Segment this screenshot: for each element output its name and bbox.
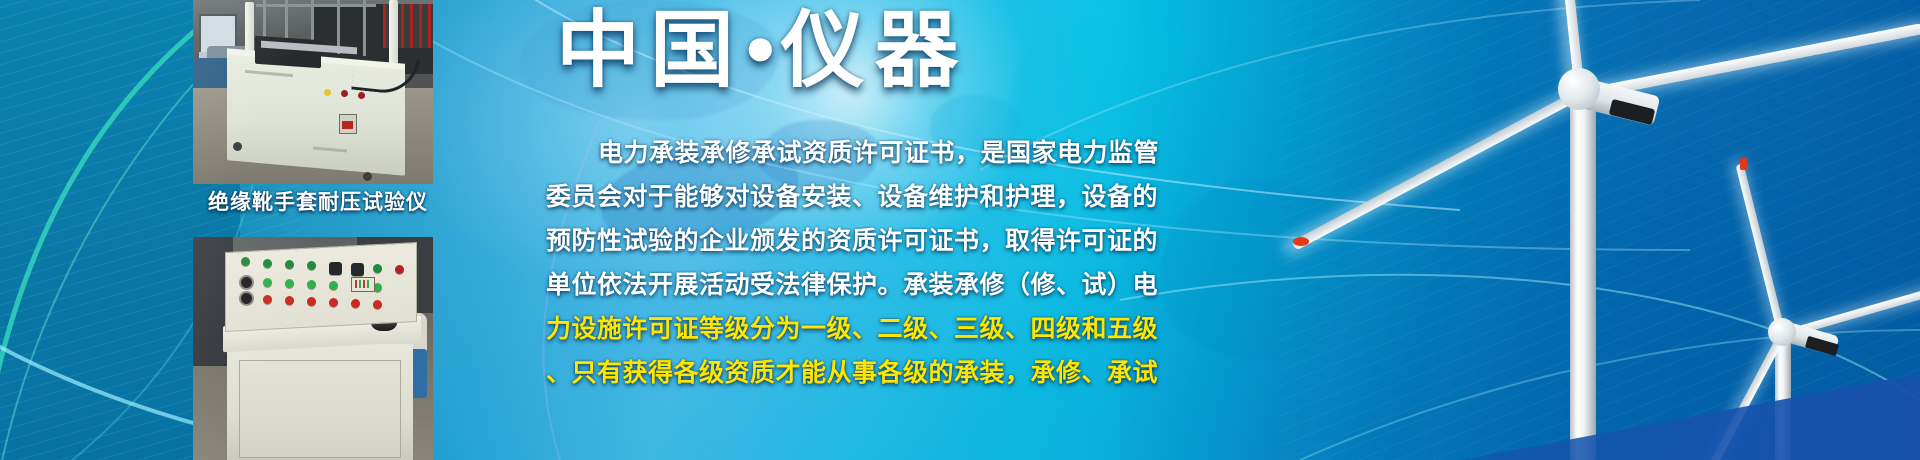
turbine-blade-tip — [1293, 237, 1309, 246]
promotional-banner: 绝缘靴手套耐压试验仪 中国●仪器 电力承装承修承试资质许可证书，是国家电力监管 … — [0, 0, 1920, 460]
description-line-highlight: 、只有获得各级资质才能从事各级的承装，承修、承试 — [546, 351, 1066, 395]
description-line: 电力承装承修承试资质许可证书，是国家电力监管 — [546, 131, 1066, 175]
product-thumbnails — [193, 0, 433, 460]
title-right-text: 仪器 — [781, 3, 969, 97]
product-photo-2[interactable] — [193, 237, 433, 460]
turbine-blade — [1736, 163, 1786, 336]
turbine-blade — [1291, 91, 1580, 251]
turbine-hub — [1768, 318, 1796, 346]
turbine-tower-large — [1570, 96, 1596, 460]
wind-turbines-illustration — [1280, 0, 1920, 460]
description-line: 委员会对于能够对设备安装、设备维护和护理，设备的 — [546, 175, 1066, 219]
description-block: 电力承装承修承试资质许可证书，是国家电力监管 委员会对于能够对设备安装、设备维护… — [546, 131, 1066, 395]
title-left-text: 中国 — [556, 3, 744, 97]
description-line: 单位依法开展活动受法律保护。承装承修（修、试）电 — [546, 263, 1066, 307]
product-caption-1: 绝缘靴手套耐压试验仪 — [193, 186, 443, 216]
title-separator-dot: ● — [744, 17, 781, 77]
page-title: 中国●仪器 — [556, 8, 969, 92]
turbine-blade-tip — [1740, 158, 1747, 170]
description-line-highlight: 力设施许可证等级分为一级、二级、三级、四级和五级 — [546, 307, 1066, 351]
product-photo-1[interactable] — [193, 0, 433, 184]
turbine-hub — [1558, 68, 1600, 110]
description-line: 预防性试验的企业颁发的资质许可证书，取得许可证的 — [546, 219, 1066, 263]
